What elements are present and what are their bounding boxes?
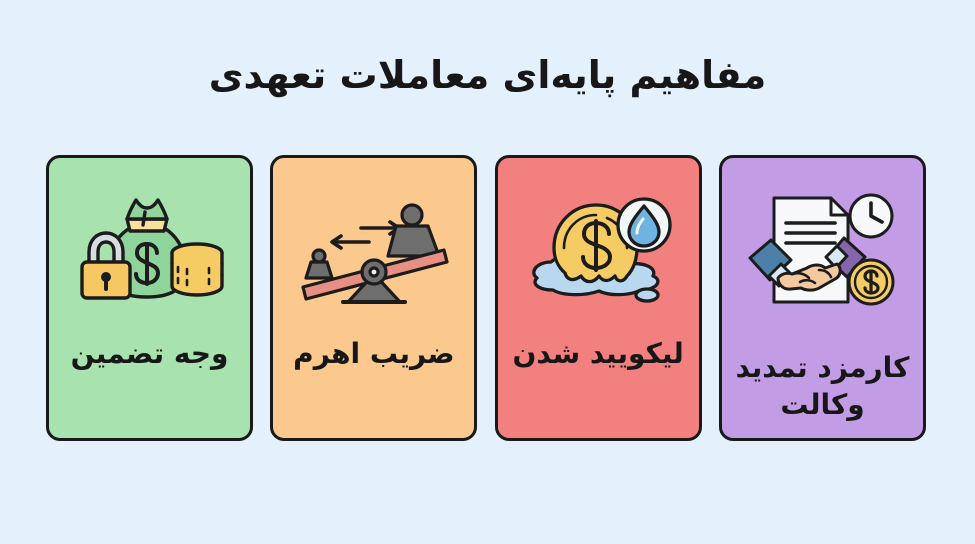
infographic-canvas: مفاهیم پایه‌ای معاملات تعهدی <box>0 0 975 544</box>
lever-seesaw-weights-icon <box>299 192 449 310</box>
concept-card-renewal-fee[interactable]: کارمزد تمدید وکالت <box>719 155 926 441</box>
card-label: وجه تضمین <box>49 320 250 438</box>
card-label: کارمزد تمدید وکالت <box>722 320 923 438</box>
concept-card-collateral[interactable]: وجه تضمین <box>46 155 253 441</box>
card-label: لیکویید شدن <box>498 320 699 438</box>
card-label-text: لیکویید شدن <box>507 336 690 373</box>
card-label-text-line-2: وکالت <box>774 387 870 424</box>
melting-coin-liquidation-icon <box>523 192 673 310</box>
concept-card-leverage[interactable]: ضریب اهرم <box>270 155 477 441</box>
card-label-text-line-1: کارمزد تمدید <box>730 350 916 387</box>
card-label-text: ضریب اهرم <box>287 336 460 373</box>
card-label: ضریب اهرم <box>273 320 474 438</box>
concept-card-liquidation[interactable]: لیکویید شدن <box>495 155 702 441</box>
card-label-text: وجه تضمین <box>65 336 235 373</box>
handshake-contract-renewal-fee-icon <box>747 192 897 310</box>
concept-cards-row: وجه تضمین <box>46 155 926 441</box>
money-bag-lock-coins-icon <box>75 192 225 310</box>
page-title: مفاهیم پایه‌ای معاملات تعهدی <box>0 52 975 100</box>
